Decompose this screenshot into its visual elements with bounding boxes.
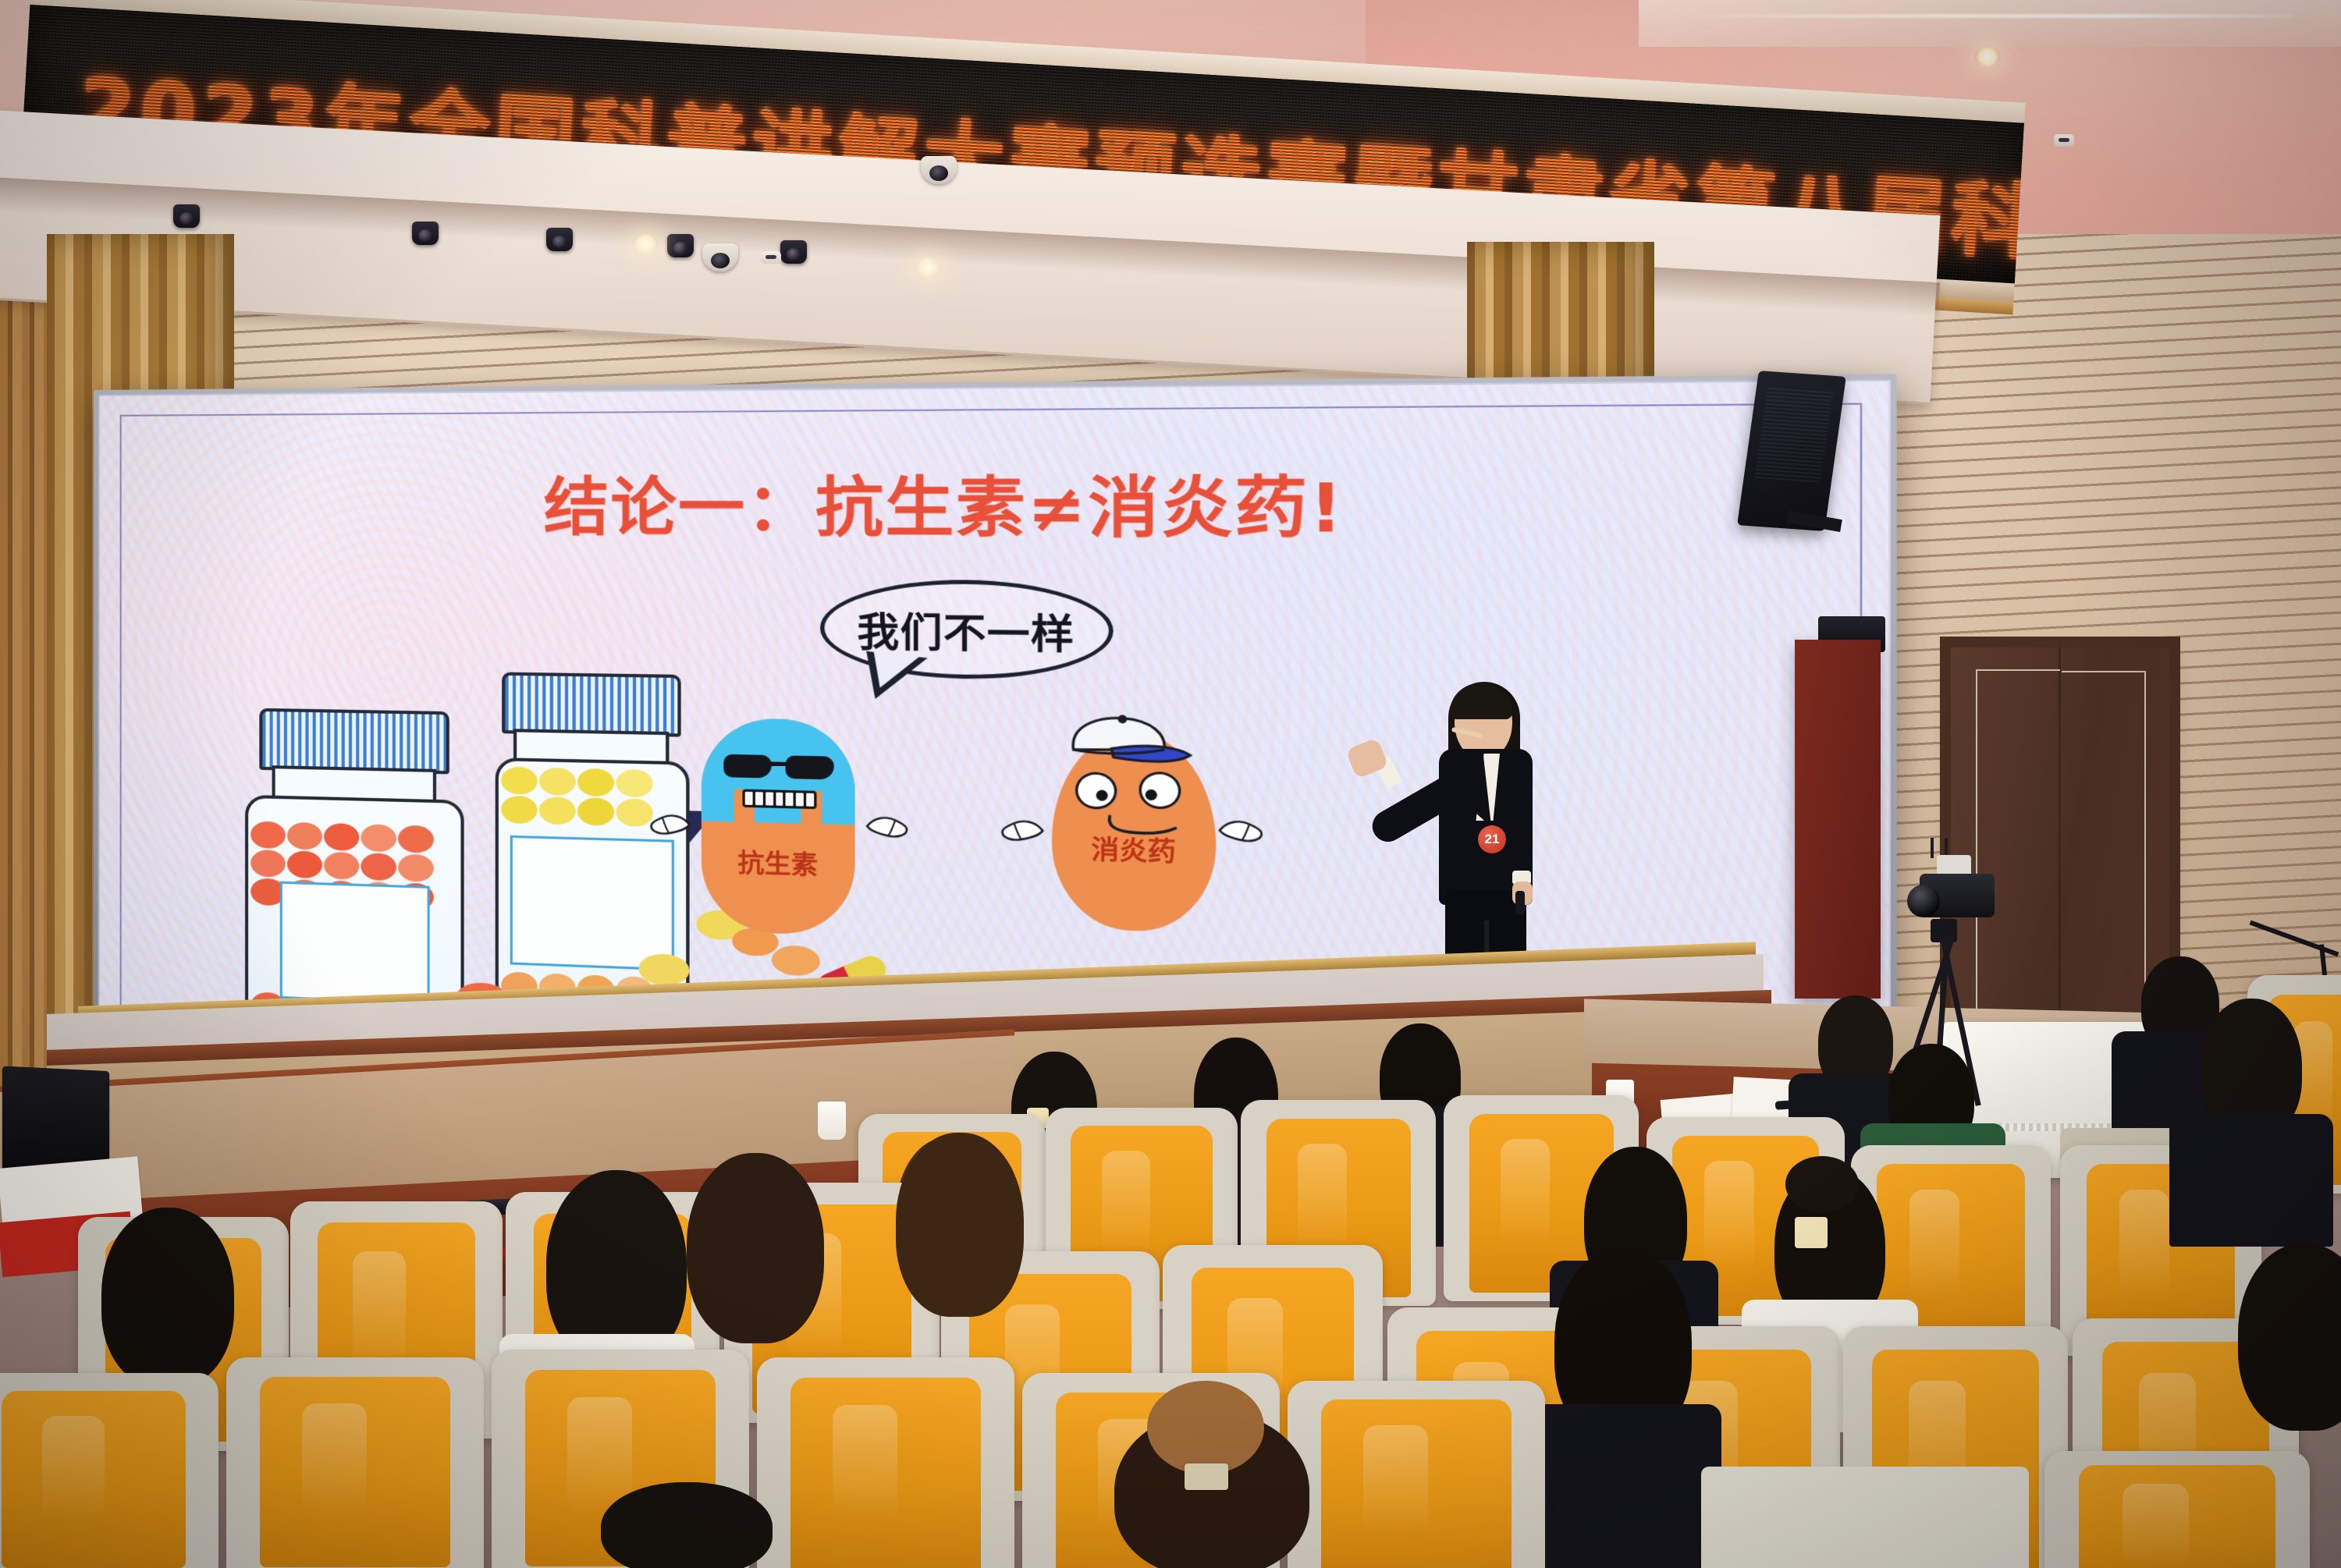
seat-cushion — [790, 1378, 981, 1568]
bottle-label — [510, 835, 674, 971]
antiinflammatory-character: 消炎药 — [1052, 718, 1216, 933]
spotlight-icon — [667, 234, 694, 257]
slide-title: 结论一：抗生素≠消炎药! — [544, 455, 1345, 552]
hand-icon-right — [1216, 818, 1264, 845]
downlight-icon — [915, 257, 941, 278]
eye-right — [1139, 772, 1181, 810]
ceiling-cove — [1639, 0, 2341, 47]
draped-coat — [1701, 1467, 2029, 1568]
hand-icon-right — [864, 814, 909, 840]
hand-icon-left — [1000, 817, 1046, 843]
seat-sheen — [2123, 1484, 2190, 1565]
sunglass-lens-left — [723, 754, 772, 779]
pupil-left — [1096, 789, 1108, 800]
seat-cushion — [1321, 1399, 1512, 1568]
audience-head — [896, 1133, 1024, 1317]
hair-clip-icon — [1185, 1463, 1228, 1490]
bottle-cap — [259, 708, 449, 775]
door-inlay-right — [2062, 671, 2146, 1039]
bottle-label — [280, 882, 430, 1005]
seat-cushion — [2079, 1465, 2275, 1568]
side-door-red[interactable] — [1795, 640, 1881, 999]
auditorium-seat[interactable] — [2044, 1451, 2310, 1568]
auditorium-seat[interactable] — [0, 1373, 218, 1568]
hair-bun — [1147, 1381, 1264, 1474]
paper-cup — [818, 1102, 846, 1140]
pupil-right — [1146, 789, 1157, 801]
seat-sheen — [2119, 1190, 2170, 1300]
loose-pill — [772, 945, 820, 976]
smoke-detector-icon — [761, 251, 781, 264]
contestant-badge: 21 — [1478, 825, 1506, 853]
sunglasses-icon — [723, 754, 833, 780]
auditorium-seat[interactable] — [757, 1357, 1014, 1568]
spotlight-icon — [546, 228, 573, 251]
audience-head — [101, 1208, 234, 1387]
hair-clip-icon — [1795, 1217, 1828, 1248]
seat-sheen — [1501, 1139, 1550, 1247]
spotlight-icon — [780, 240, 807, 264]
downlight-icon — [1974, 47, 2001, 67]
auditorium-seat[interactable] — [1288, 1381, 1545, 1568]
audience-head — [687, 1153, 824, 1343]
seat-sheen — [833, 1405, 897, 1523]
antibiotic-label: 抗生素 — [702, 841, 855, 882]
audience-body — [1519, 1404, 1721, 1568]
seat-sheen — [1704, 1161, 1754, 1269]
seat-sheen — [1363, 1425, 1428, 1535]
smoke-detector-icon — [2054, 134, 2074, 147]
cove-light-strip — [1701, 14, 2294, 18]
camera-lens-icon — [1907, 885, 1940, 917]
seat-sheen — [1909, 1190, 1959, 1299]
presentation-clicker — [1515, 891, 1525, 914]
audience-head — [601, 1482, 773, 1568]
seat-cushion — [2, 1391, 186, 1567]
camera-antenna — [1931, 838, 1934, 858]
hair-bun — [1785, 1156, 1859, 1212]
sunglass-bridge — [770, 761, 787, 766]
seat-sheen — [1298, 1144, 1347, 1251]
auditorium-seat[interactable] — [226, 1357, 484, 1568]
spotlight-icon — [173, 204, 200, 228]
eye-left — [1075, 772, 1117, 810]
seat-sheen — [1102, 1151, 1150, 1256]
baseball-cap-icon — [1057, 714, 1194, 772]
antiinflammatory-label: 消炎药 — [1052, 827, 1216, 870]
pill-bottle-red — [245, 708, 479, 1034]
seat-sheen — [302, 1403, 367, 1517]
sunglass-lens-right — [786, 755, 834, 779]
auditorium-scene: 2023年全国科普讲解大赛预选赛暨甘肃省第八届科普讲解大赛武威赛区决赛 结论一：… — [0, 0, 2341, 1568]
antibiotic-character: 抗生素 — [702, 718, 855, 936]
downlight-icon — [632, 234, 659, 254]
spotlight-icon — [412, 222, 439, 245]
bottle-cap — [502, 672, 681, 737]
seat-sheen — [42, 1416, 105, 1522]
grin-mouth-icon — [742, 789, 816, 810]
seat-cushion — [260, 1377, 450, 1567]
audience-body — [2169, 1114, 2333, 1247]
hand-icon-left — [648, 811, 692, 837]
control-monitor[interactable] — [2, 1066, 109, 1173]
